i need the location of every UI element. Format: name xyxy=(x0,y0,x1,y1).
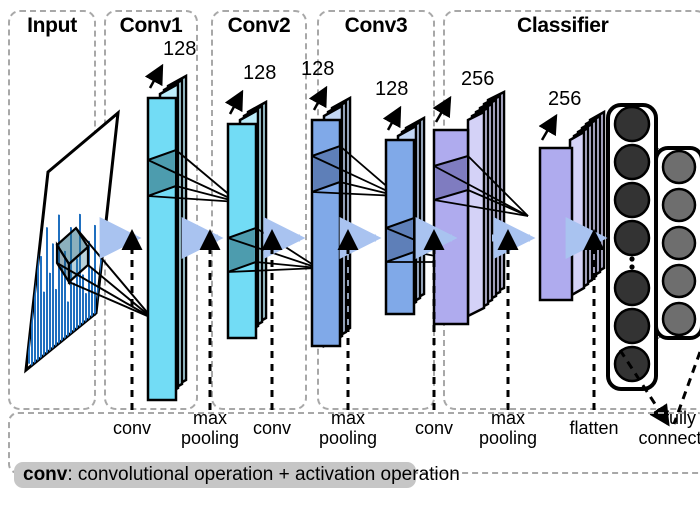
conv3-feature-maps xyxy=(434,92,528,324)
channel-label-conv2-b: 128 xyxy=(375,78,408,101)
channel-label-conv1-b: 128 xyxy=(243,62,276,85)
input-signal-plane xyxy=(26,113,225,418)
fully-connected-nodes xyxy=(663,151,695,335)
conv1-feature-maps xyxy=(148,66,238,400)
channel-label-conv1-a: 128 xyxy=(163,38,196,61)
channel-label-conv3-b: 256 xyxy=(548,88,581,111)
legend-term: conv xyxy=(23,464,67,486)
channel-label-conv2-a: 128 xyxy=(301,58,334,81)
legend-bar: conv: convolutional operation + activati… xyxy=(14,462,416,488)
conv3-pooled-maps xyxy=(540,112,604,300)
legend-description: : convolutional operation + activation o… xyxy=(67,464,459,486)
operation-pointers xyxy=(132,232,594,410)
classifier-network xyxy=(608,105,700,424)
cnn-architecture-figure: Input Conv1 Conv2 Conv3 Classifier xyxy=(0,0,700,525)
channel-label-conv3-a: 256 xyxy=(461,68,494,91)
